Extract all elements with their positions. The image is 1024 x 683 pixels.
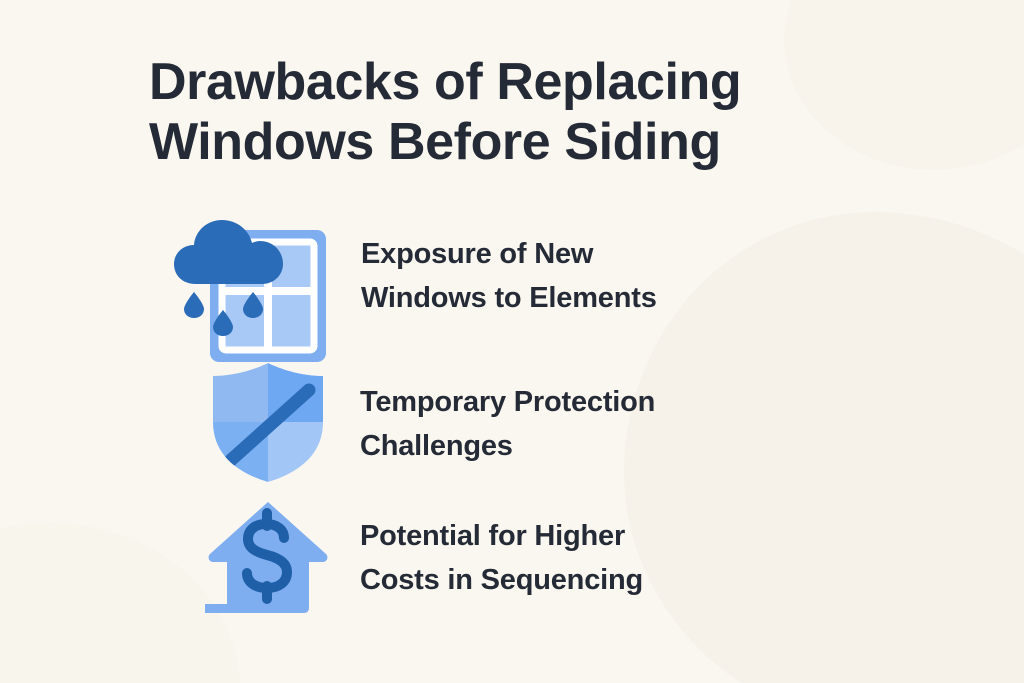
- list-item-label: Temporary Protection Challenges: [360, 380, 655, 468]
- shield-slash-icon: [205, 360, 331, 485]
- window-rain-cloud-icon: [166, 208, 341, 363]
- list-item: Exposure of New Windows to Elements: [166, 208, 657, 363]
- list-item: Temporary Protection Challenges: [205, 360, 655, 485]
- page-title: Drawbacks of Replacing Windows Before Si…: [149, 52, 869, 172]
- list-item-label: Potential for Higher Costs in Sequencing: [360, 514, 643, 602]
- list-item-label: Exposure of New Windows to Elements: [361, 232, 657, 320]
- list-item: Potential for Higher Costs in Sequencing: [205, 500, 643, 620]
- infographic-canvas: Drawbacks of Replacing Windows Before Si…: [0, 0, 1024, 683]
- house-dollar-arrow-icon: [205, 500, 331, 620]
